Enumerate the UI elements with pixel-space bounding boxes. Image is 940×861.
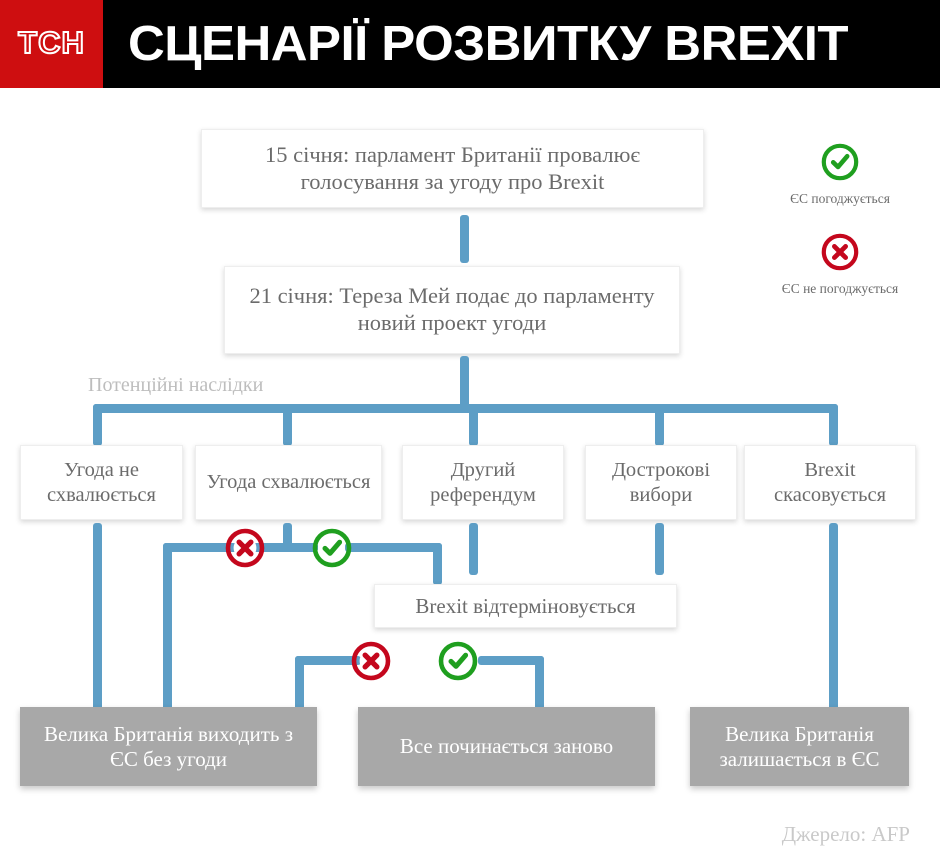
x-circle-icon: [820, 232, 860, 272]
connector-between-decision-icons: [262, 543, 318, 552]
connector-drop-3: [469, 404, 478, 446]
connector-outcome4-down: [655, 523, 664, 575]
outcome-text-1: Угода не схвалюється: [29, 458, 174, 506]
outcome-text-2: Угода схвалюється: [207, 470, 371, 494]
result-text-3: Велика Британія залишається в ЄС: [700, 722, 899, 772]
page-title: СЦЕНАРІЇ РОЗВИТКУ BREXIT: [128, 0, 940, 88]
source-credit: Джерело: AFP: [782, 822, 910, 847]
check-circle-icon: [820, 142, 860, 182]
result-text-1: Велика Британія виходить з ЄС без угоди: [30, 722, 307, 772]
connector-step1-step2: [460, 215, 469, 263]
result-box-no-deal-exit: Велика Британія виходить з ЄС без угоди: [20, 707, 317, 786]
tsn-logo-text: ТСН: [18, 25, 85, 63]
outcome-text-3: Другий референдум: [411, 458, 555, 506]
connector-outcome1-result1: [93, 523, 102, 713]
outcome-box-brexit-cancelled: Brexit скасовується: [744, 445, 916, 520]
connector-drop-5: [829, 404, 838, 446]
connector-drop-2: [283, 404, 292, 446]
result-box-stay-in-eu: Велика Британія залишається в ЄС: [690, 707, 909, 786]
outcome-box-deal-approved: Угода схвалюється: [195, 445, 382, 520]
delay-box-text: Brexit відтерміновується: [415, 594, 635, 619]
check-circle-icon-upper: [311, 527, 353, 569]
connector-outcome5-result3: [829, 523, 838, 713]
connector-outcome3-down: [469, 523, 478, 575]
outcome-box-early-elections: Дострокові вибори: [585, 445, 737, 520]
x-circle-icon-lower: [350, 640, 392, 682]
connector-outcome2-down-result1: [163, 543, 172, 713]
tsn-logo: ТСН: [0, 0, 103, 88]
connector-drop-1: [93, 404, 102, 446]
result-text-2: Все починається заново: [400, 734, 613, 759]
connector-drop-4: [655, 404, 664, 446]
section-label-consequences: Потенційні наслідки: [88, 374, 263, 397]
step-1-box: 15 січня: парламент Британії провалює го…: [201, 129, 704, 208]
check-circle-icon-lower: [437, 640, 479, 682]
legend-item-disagrees: ЄС не погоджується: [765, 232, 915, 297]
connector-lower-right-down: [535, 656, 544, 714]
legend-item-agrees: ЄС погоджується: [770, 142, 910, 207]
connector-delay-down: [433, 543, 442, 585]
step-2-box: 21 січня: Тереза Мей подає до парламенту…: [224, 266, 680, 354]
step-1-text: 15 січня: парламент Британії провалює го…: [224, 142, 681, 195]
outcome-box-second-referendum: Другий референдум: [402, 445, 564, 520]
outcome-box-deal-rejected: Угода не схвалюється: [20, 445, 183, 520]
infographic-root: ТСН СЦЕНАРІЇ РОЗВИТКУ BREXIT ЄС погоджує…: [0, 0, 940, 861]
delay-box: Brexit відтерміновується: [374, 584, 677, 628]
connector-check-to-delay: [345, 543, 442, 552]
result-box-start-over: Все починається заново: [358, 707, 655, 786]
step-2-text: 21 січня: Тереза Мей подає до парламенту…: [245, 283, 659, 336]
connector-lower-left-down-result1: [295, 656, 304, 714]
legend-label-agrees: ЄС погоджується: [770, 191, 910, 207]
header-bar: ТСН СЦЕНАРІЇ РОЗВИТКУ BREXIT: [0, 0, 940, 88]
outcome-text-4: Дострокові вибори: [594, 458, 728, 506]
x-circle-icon-upper: [224, 527, 266, 569]
outcome-text-5: Brexit скасовується: [753, 458, 907, 506]
legend-label-disagrees: ЄС не погоджується: [765, 281, 915, 297]
connector-distribution-bar: [93, 404, 838, 413]
